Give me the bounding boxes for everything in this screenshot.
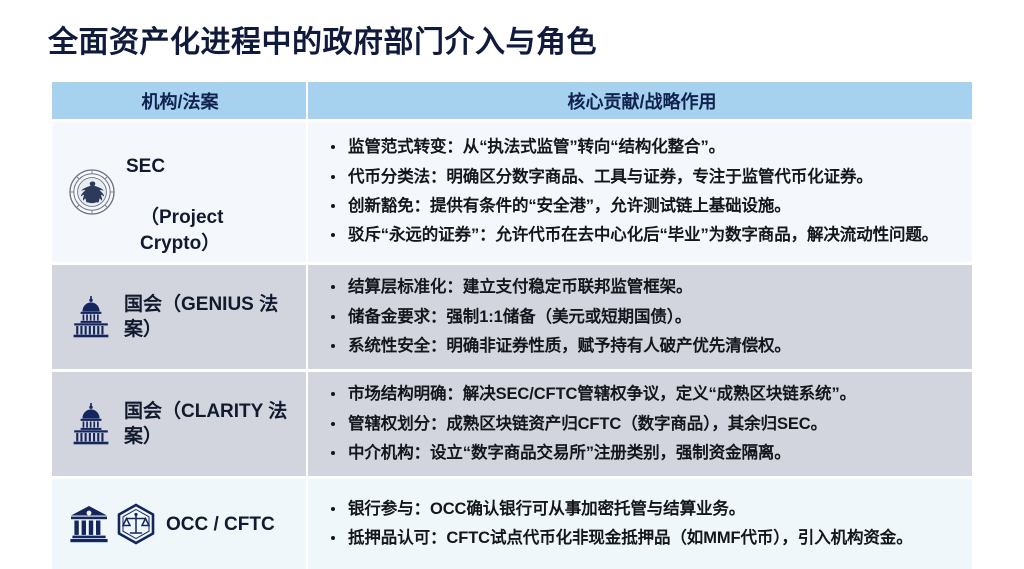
row-clarity-bullet-list: 市场结构明确：解决SEC/CFTC管辖权争议，定义“成熟区块链系统”。 管辖权划…	[322, 380, 962, 468]
list-item: 抵押品认可：CFTC试点代币化非现金抵押品（如MMF代币），引入机构资金。	[322, 524, 962, 553]
row-genius-contribution-cell: 结算层标准化：建立支付稳定币联邦监管框架。 储备金要求：强制1:1储备（美元或短…	[308, 265, 972, 369]
row-occ-institution-cell: OCC / CFTC	[52, 479, 306, 569]
row-genius-label: 国会（GENIUS 法案）	[124, 292, 298, 343]
list-item: 市场结构明确：解决SEC/CFTC管辖权争议，定义“成熟区块链系统”。	[322, 380, 962, 409]
sec-seal-icon	[68, 168, 116, 216]
list-item: 驳斥“永远的证券”：允许代币在去中心化后“毕业”为数字商品，解决流动性问题。	[322, 221, 962, 250]
row-clarity-icons	[68, 401, 114, 447]
header-label-contribution: 核心贡献/战略作用	[322, 88, 962, 114]
list-item: 代币分类法：明确区分数字商品、工具与证券，专注于监管代币化证券。	[322, 163, 962, 192]
bank-building-icon	[68, 503, 110, 545]
row-clarity-institution-cell: 国会（CLARITY 法案）	[52, 372, 306, 476]
capitol-dome-icon	[68, 294, 114, 340]
list-item: 管辖权划分：成熟区块链资产归CFTC（数字商品），其余归SEC。	[322, 410, 962, 439]
row-sec-icons	[68, 168, 116, 216]
capitol-dome-icon	[68, 401, 114, 447]
list-item: 储备金要求：强制1:1储备（美元或短期国债）。	[322, 303, 962, 332]
row-genius-bullet-list: 结算层标准化：建立支付稳定币联邦监管框架。 储备金要求：强制1:1储备（美元或短…	[322, 273, 962, 361]
table-row-sec: SEC （Project Crypto） 监管范式转变：从“执法式监管”转向“结…	[52, 122, 972, 262]
row-genius-institution-cell: 国会（GENIUS 法案）	[52, 265, 306, 369]
list-item: 系统性安全：明确非证券性质，赋予持有人破产优先清偿权。	[322, 332, 962, 361]
list-item: 结算层标准化：建立支付稳定币联邦监管框架。	[322, 273, 962, 302]
list-item: 银行参与：OCC确认银行可从事加密托管与结算业务。	[322, 495, 962, 524]
row-occ-contribution-cell: 银行参与：OCC确认银行可从事加密托管与结算业务。 抵押品认可：CFTC试点代币…	[308, 479, 972, 569]
row-sec-contribution-cell: 监管范式转变：从“执法式监管”转向“结构化整合”。 代币分类法：明确区分数字商品…	[308, 122, 972, 262]
row-clarity-label: 国会（CLARITY 法案）	[124, 399, 298, 450]
page-title: 全面资产化进程中的政府部门介入与角色	[48, 17, 597, 61]
list-item: 创新豁免：提供有条件的“安全港”，允许测试链上基础设施。	[322, 192, 962, 221]
table-row-congress-genius: 国会（GENIUS 法案） 结算层标准化：建立支付稳定币联邦监管框架。 储备金要…	[52, 265, 972, 369]
row-genius-icons	[68, 294, 114, 340]
row-sec-institution-cell: SEC （Project Crypto）	[52, 122, 306, 262]
scales-hexagon-icon	[116, 503, 156, 545]
row-occ-bullet-list: 银行参与：OCC确认银行可从事加密托管与结算业务。 抵押品认可：CFTC试点代币…	[322, 495, 962, 554]
list-item: 中介机构：设立“数字商品交易所”注册类别，强制资金隔离。	[322, 439, 962, 468]
header-cell-contribution: 核心贡献/战略作用	[308, 82, 972, 119]
list-item: 监管范式转变：从“执法式监管”转向“结构化整合”。	[322, 133, 962, 162]
row-occ-icons	[68, 503, 156, 545]
government-roles-table: 机构/法案 核心贡献/战略作用	[52, 82, 972, 569]
row-sec-label-line1: SEC	[126, 156, 165, 177]
row-sec-label-line2: （Project Crypto）	[126, 205, 298, 256]
row-clarity-contribution-cell: 市场结构明确：解决SEC/CFTC管辖权争议，定义“成熟区块链系统”。 管辖权划…	[308, 372, 972, 476]
header-label-institution: 机构/法案	[62, 88, 298, 114]
table-row-congress-clarity: 国会（CLARITY 法案） 市场结构明确：解决SEC/CFTC管辖权争议，定义…	[52, 372, 972, 476]
table-header-row: 机构/法案 核心贡献/战略作用	[52, 82, 972, 119]
table-row-occ-cftc: OCC / CFTC 银行参与：OCC确认银行可从事加密托管与结算业务。 抵押品…	[52, 479, 972, 569]
row-sec-label: SEC （Project Crypto）	[126, 128, 298, 256]
row-occ-label: OCC / CFTC	[166, 512, 275, 538]
row-sec-bullet-list: 监管范式转变：从“执法式监管”转向“结构化整合”。 代币分类法：明确区分数字商品…	[322, 133, 962, 250]
header-cell-institution: 机构/法案	[52, 82, 306, 119]
